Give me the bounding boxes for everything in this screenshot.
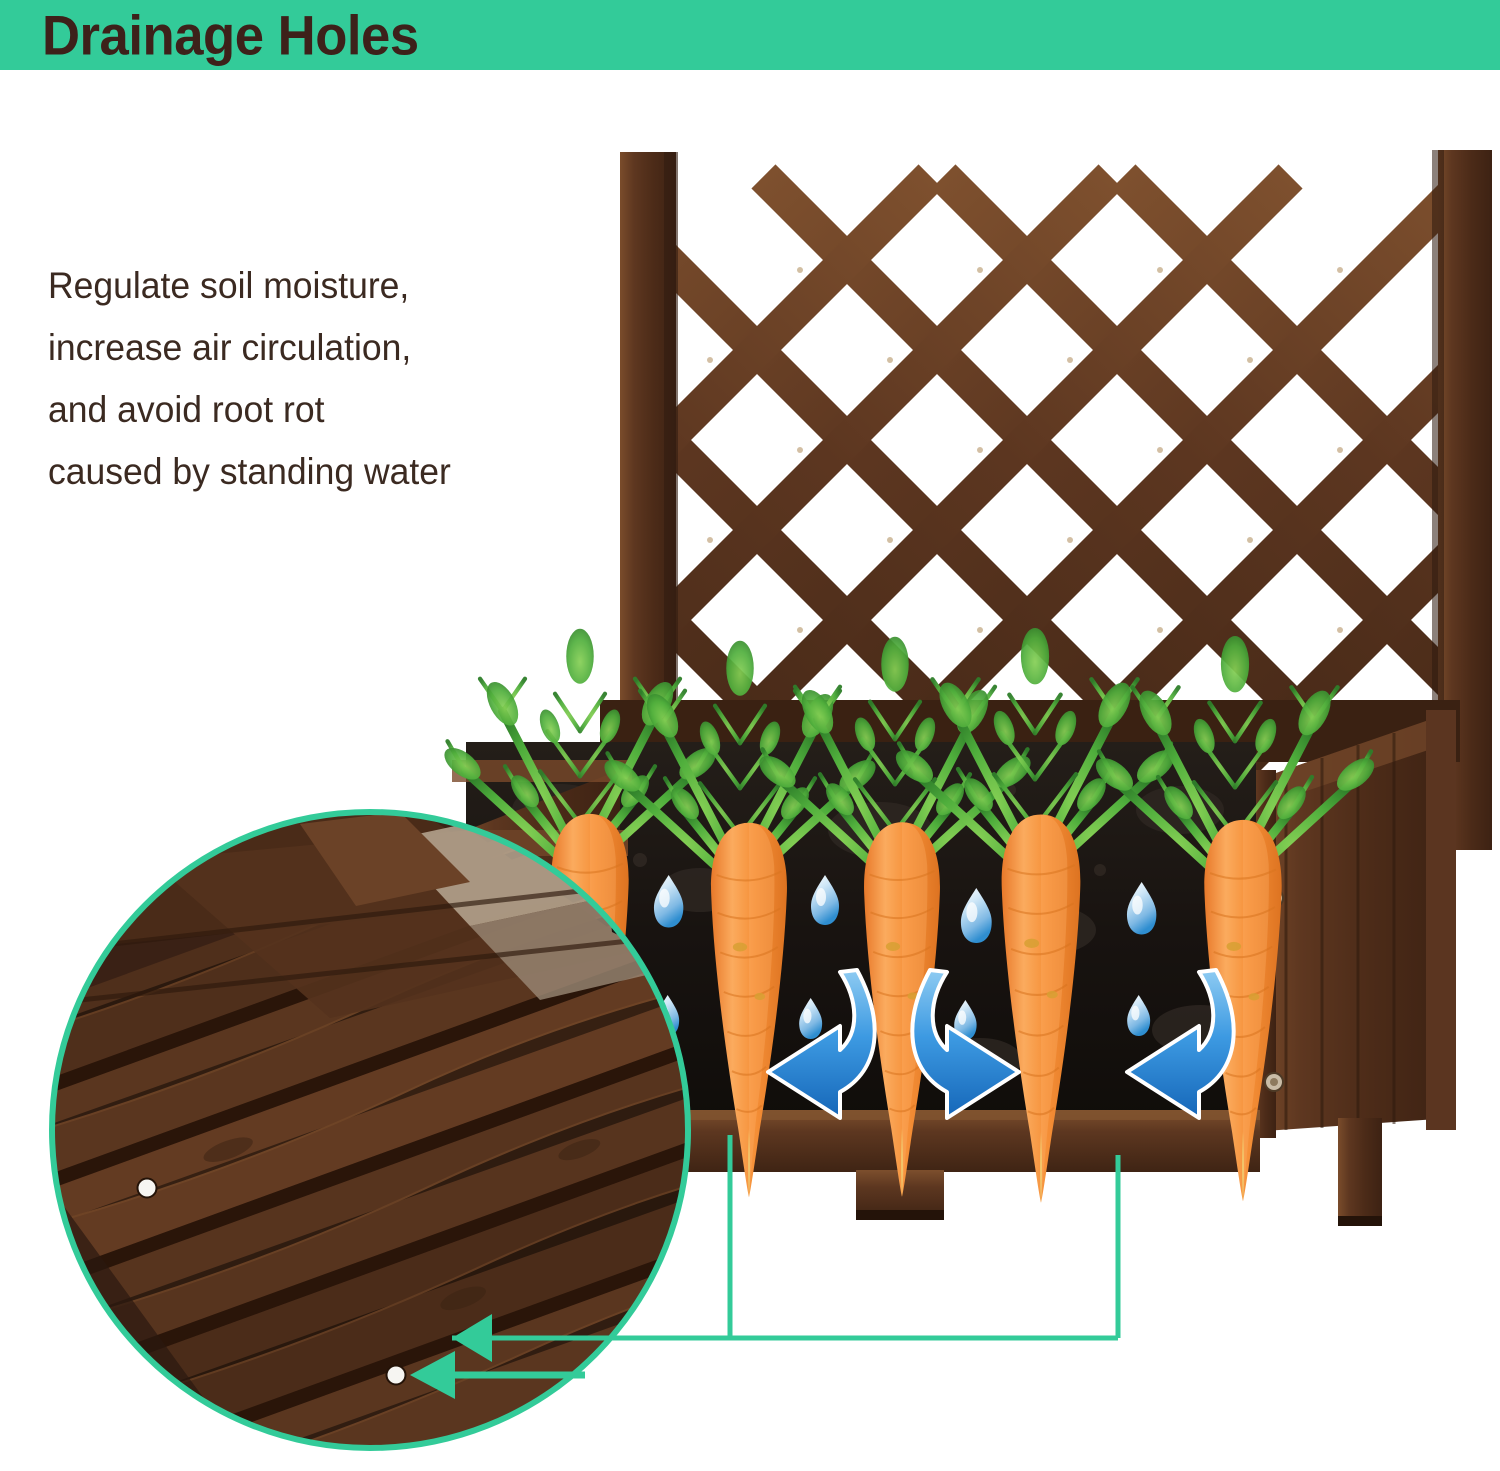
drain-hole-lower <box>387 1366 406 1385</box>
product-illustration <box>0 70 1500 1471</box>
page-title: Drainage Holes <box>42 3 419 68</box>
planter-right-leg <box>1338 1118 1382 1226</box>
header-banner: Drainage Holes <box>0 0 1500 70</box>
infographic-canvas: Drainage Holes Regulate soil moisture, i… <box>0 0 1500 1471</box>
drain-hole-upper <box>138 1179 157 1198</box>
planter-svg <box>0 70 1500 1471</box>
